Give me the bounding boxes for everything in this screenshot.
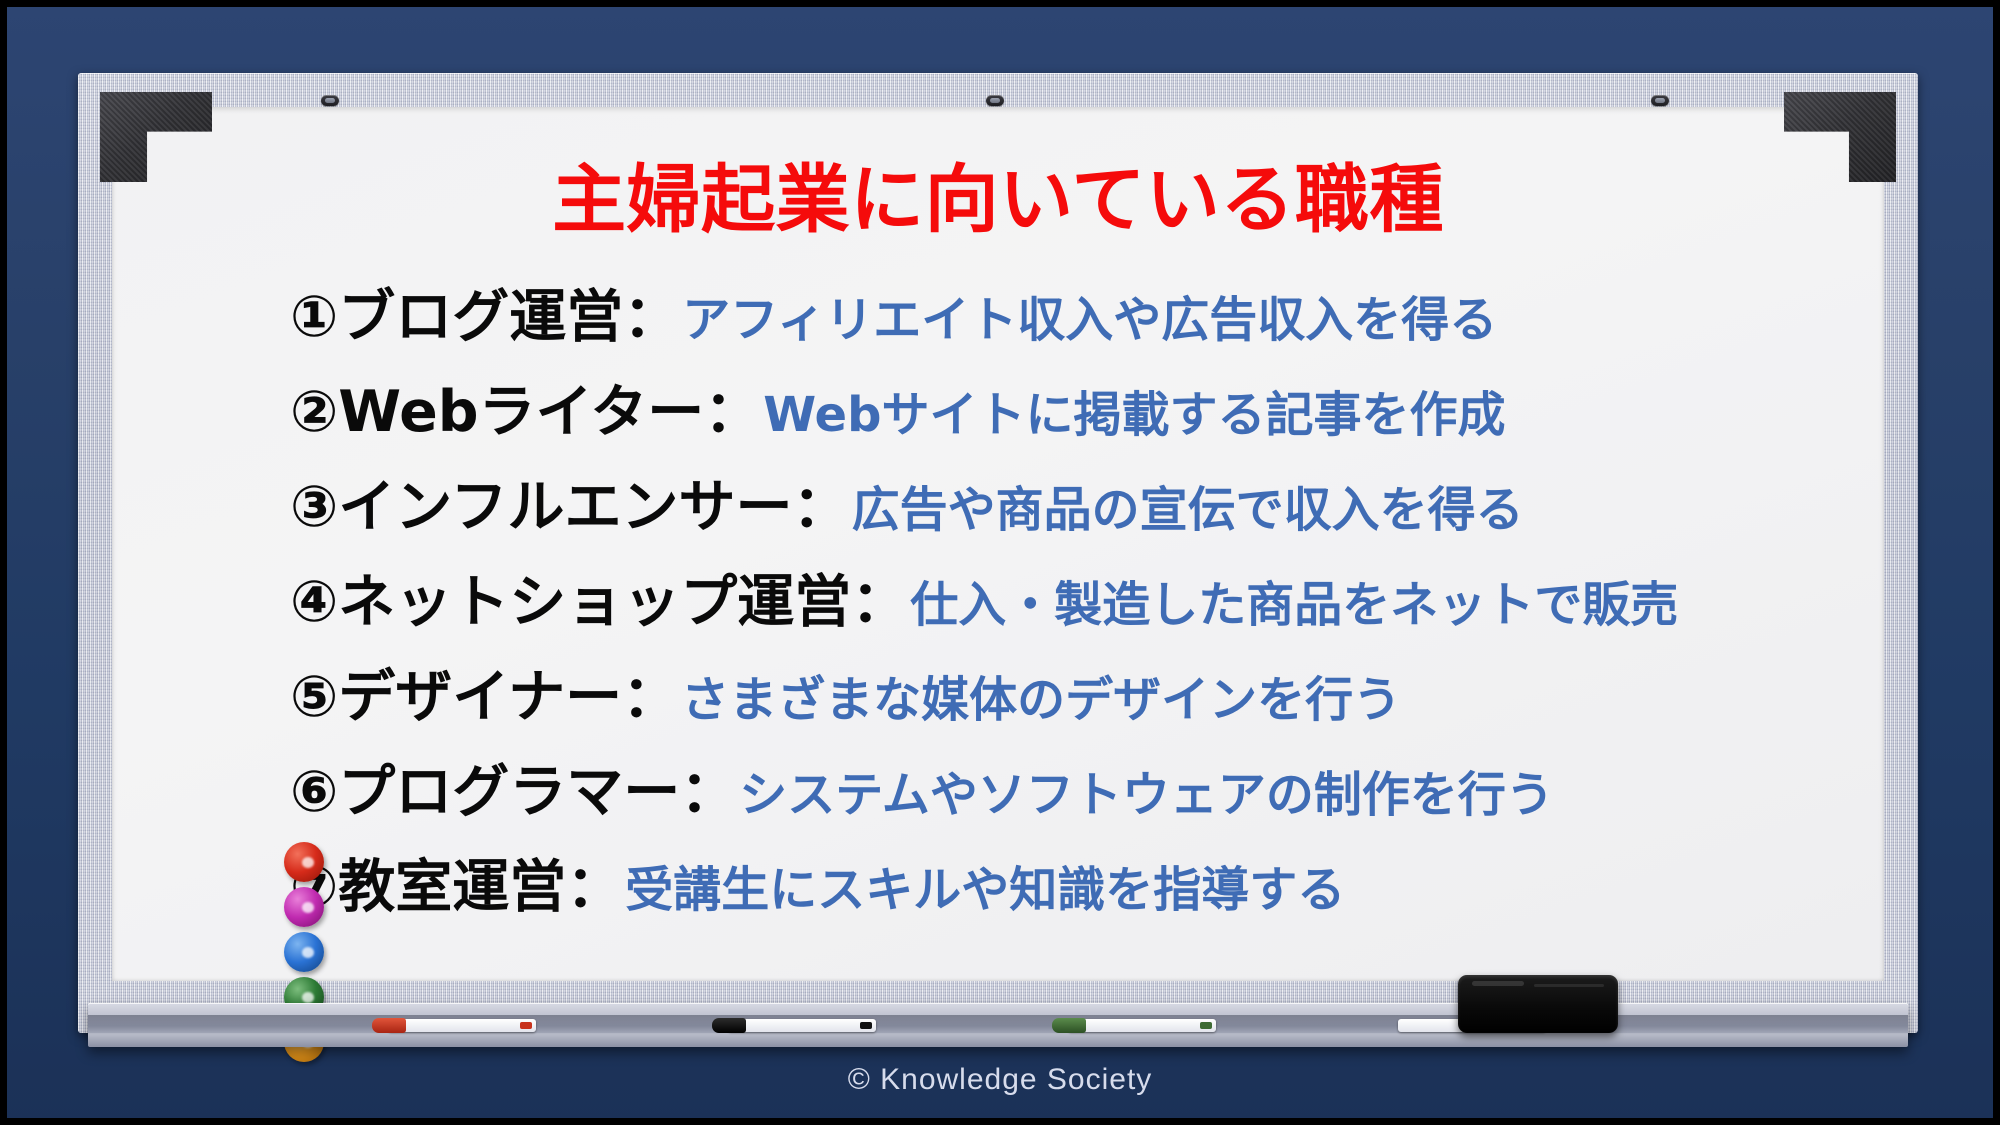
letterbox-left [0, 0, 7, 1125]
list-item-desc: システムやソフトウェアの制作を行う [739, 771, 1554, 819]
marker-red[interactable] [388, 1019, 536, 1032]
list-item: ⑦教室運営： 受講生にスキルや知識を指導する [290, 859, 1844, 954]
page-title: 主婦起業に向いている職種 [112, 163, 1884, 237]
list-item-desc: アフィリエイト収入や広告収入を得る [682, 296, 1497, 344]
list-item-label: ①ブログ運営： [290, 289, 680, 346]
list-item-label: ③インフルエンサー： [290, 479, 850, 536]
list-item: ②Webライター： Webサイトに掲載する記事を作成 [290, 384, 1844, 479]
list-item-label: ②Webライター： [290, 384, 761, 441]
marker-black[interactable] [728, 1019, 876, 1032]
list-item-label: ⑤デザイナー： [290, 669, 679, 726]
slide: 主婦起業に向いている職種 ①ブログ運営： アフィリエイト収入や広告収入を得る ②… [0, 0, 2000, 1125]
pen-tray-lip [88, 1015, 1908, 1033]
pen-tray [88, 1003, 1908, 1047]
magnet-red [284, 842, 324, 882]
marker-cap [1052, 1018, 1086, 1033]
list-item-desc: 受講生にスキルや知識を指導する [625, 866, 1345, 914]
job-list: ①ブログ運営： アフィリエイト収入や広告収入を得る ②Webライター： Webサ… [290, 289, 1844, 954]
frame-screw [986, 95, 1004, 106]
list-item: ⑤デザイナー： さまざまな媒体のデザインを行う [290, 669, 1844, 764]
frame-screw [321, 95, 339, 106]
whiteboard-surface: 主婦起業に向いている職種 ①ブログ運営： アフィリエイト収入や広告収入を得る ②… [112, 107, 1884, 981]
marker-body [388, 1019, 536, 1032]
list-item: ③インフルエンサー： 広告や商品の宣伝で収入を得る [290, 479, 1844, 574]
whiteboard: 主婦起業に向いている職種 ①ブログ運営： アフィリエイト収入や広告収入を得る ②… [78, 73, 1918, 1033]
marker-tip [520, 1022, 532, 1029]
list-item-label: ⑦教室運営： [290, 859, 623, 916]
letterbox-top [0, 0, 2000, 7]
marker-cap [372, 1018, 406, 1033]
list-item-label: ④ネットショップ運営： [290, 574, 908, 631]
list-item-desc: さまざまな媒体のデザインを行う [681, 676, 1401, 724]
list-item: ④ネットショップ運営： 仕入・製造した商品をネットで販売 [290, 574, 1844, 669]
copyright-footer: © Knowledge Society [0, 1063, 2000, 1097]
magnet-blue [284, 932, 324, 972]
letterbox-bottom [0, 1118, 2000, 1125]
marker-green[interactable] [1068, 1019, 1216, 1032]
list-item-desc: 広告や商品の宣伝で収入を得る [852, 486, 1524, 534]
marker-tip [1200, 1022, 1212, 1029]
letterbox-right [1993, 0, 2000, 1125]
marker-cap [712, 1018, 746, 1033]
frame-screw [1651, 95, 1669, 106]
whiteboard-eraser[interactable] [1458, 975, 1618, 1033]
list-item-label: ⑥プログラマー： [290, 764, 737, 821]
marker-cap [1382, 1018, 1416, 1033]
marker-body [1068, 1019, 1216, 1032]
list-item: ⑥プログラマー： システムやソフトウェアの制作を行う [290, 764, 1844, 859]
marker-tip [860, 1022, 872, 1029]
list-item: ①ブログ運営： アフィリエイト収入や広告収入を得る [290, 289, 1844, 384]
list-item-desc: 仕入・製造した商品をネットで販売 [910, 581, 1678, 629]
magnet-magenta [284, 887, 324, 927]
list-item-desc: Webサイトに掲載する記事を作成 [763, 391, 1505, 439]
marker-body [728, 1019, 876, 1032]
